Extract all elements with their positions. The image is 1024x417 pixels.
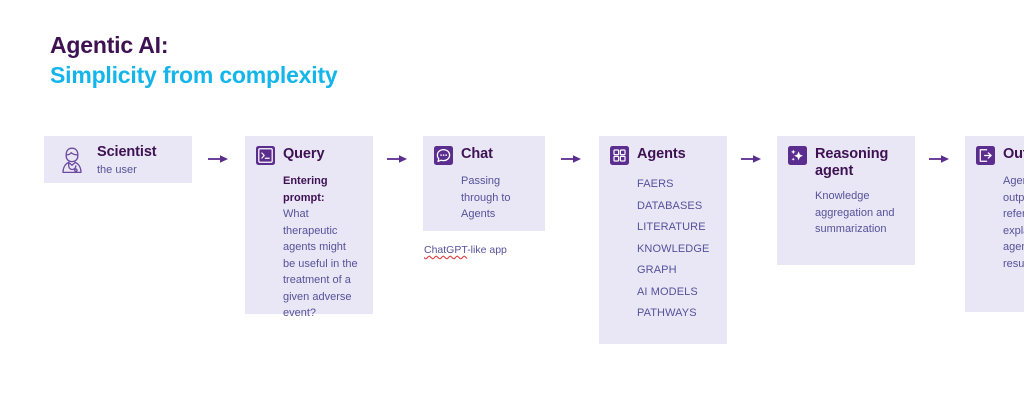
page-title-line-2: Simplicity from complexity	[50, 60, 338, 90]
card-output[interactable]: Output Agent-generated output with refer…	[965, 136, 1024, 312]
stage-scientist: Scientist the user	[44, 136, 192, 183]
card-scientist[interactable]: Scientist the user	[44, 136, 192, 183]
card-output-head: Output	[976, 146, 1024, 165]
chat-bubble-icon	[434, 146, 453, 165]
list-item: GRAPH	[637, 260, 715, 282]
stage-reasoning-agent: Reasoning agent Knowledge aggregation an…	[777, 136, 915, 265]
card-query-head: Query	[256, 146, 361, 165]
card-query-title: Query	[283, 146, 324, 163]
stage-output: Output Agent-generated output with refer…	[965, 136, 1024, 312]
card-chat-title: Chat	[461, 146, 493, 163]
terminal-icon	[256, 146, 275, 165]
card-reasoning-agent[interactable]: Reasoning agent Knowledge aggregation an…	[777, 136, 915, 265]
list-item: PATHWAYS	[637, 303, 715, 325]
scientist-icon	[55, 143, 89, 177]
card-chat[interactable]: Chat Passing through to Agents	[423, 136, 545, 231]
card-agents-head: Agents	[610, 146, 715, 165]
card-query-text: What therapeutic agents might be useful …	[283, 208, 358, 319]
card-scientist-text: Scientist the user	[97, 144, 157, 178]
page-title-line-1: Agentic AI:	[50, 30, 338, 60]
card-output-title: Output	[1003, 146, 1024, 163]
arrow-query-to-chat	[387, 154, 409, 164]
card-scientist-head: Scientist the user	[55, 144, 180, 178]
card-agents[interactable]: Agents FAERS DATABASES LITERATURE KNOWLE…	[599, 136, 727, 344]
arrow-agents-to-reasoning	[741, 154, 763, 164]
stage-query: Query Entering prompt: What therapeutic …	[245, 136, 373, 314]
card-reasoning-head: Reasoning agent	[788, 146, 903, 180]
card-query-lead: Entering prompt:	[283, 173, 361, 206]
card-scientist-subtitle: the user	[97, 162, 157, 178]
sparkle-icon	[788, 146, 807, 165]
card-chat-body: Passing through to Agents	[461, 173, 533, 223]
chat-caption-rest: -like app	[467, 244, 507, 256]
card-query[interactable]: Query Entering prompt: What therapeutic …	[245, 136, 373, 314]
chat-caption: ChatGPT-like app	[424, 244, 507, 256]
list-item: LITERATURE	[637, 217, 715, 239]
card-output-body: Agent-generated output with references a…	[1003, 173, 1024, 272]
chat-caption-product: ChatGPT	[424, 244, 467, 256]
card-scientist-title: Scientist	[97, 144, 157, 161]
card-query-body: Entering prompt: What therapeutic agents…	[283, 173, 361, 322]
stage-chat: Chat Passing through to Agents ChatGPT-l…	[423, 136, 545, 256]
list-item: KNOWLEDGE	[637, 239, 715, 261]
arrow-chat-to-agents	[561, 154, 583, 164]
agentic-ai-flow-diagram: Scientist the user Query	[44, 136, 1004, 344]
card-chat-head: Chat	[434, 146, 533, 165]
list-item: FAERS	[637, 174, 715, 196]
export-icon	[976, 146, 995, 165]
card-agents-title: Agents	[637, 146, 686, 163]
list-item: AI MODELS	[637, 282, 715, 304]
arrow-scientist-to-query	[208, 154, 230, 164]
list-item: DATABASES	[637, 196, 715, 218]
page-title: Agentic AI: Simplicity from complexity	[50, 30, 338, 90]
stage-agents: Agents FAERS DATABASES LITERATURE KNOWLE…	[599, 136, 727, 344]
agents-list: FAERS DATABASES LITERATURE KNOWLEDGE GRA…	[637, 174, 715, 325]
arrow-reasoning-to-output	[929, 154, 951, 164]
card-reasoning-body: Knowledge aggregation and summarization	[815, 188, 903, 238]
grid-icon	[610, 146, 629, 165]
card-reasoning-title: Reasoning agent	[815, 146, 903, 180]
